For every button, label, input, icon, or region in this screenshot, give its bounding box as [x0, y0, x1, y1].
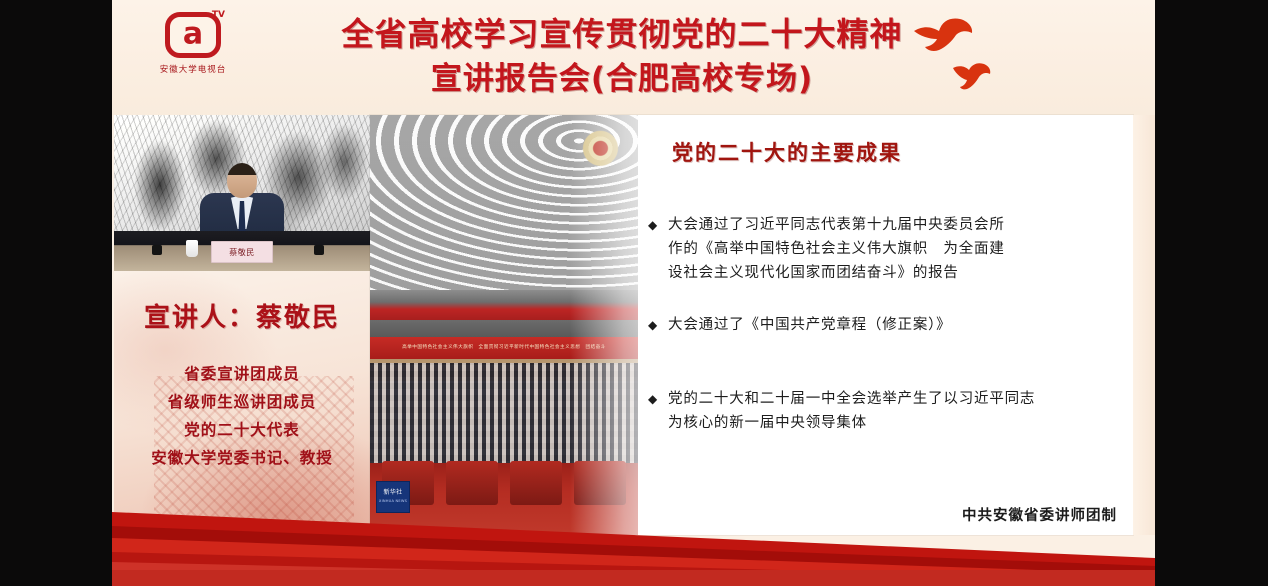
bullet-diamond-icon: ◆: [648, 213, 658, 285]
bullet-line: 为核心的新一届中央领导集体: [668, 411, 1119, 435]
watermark-cn: 新华社: [384, 489, 403, 497]
presentation-slide[interactable]: 高举中国特色社会主义伟大旗帜 全面贯彻习近平新时代中国特色社会主义思想 团结奋斗…: [370, 115, 1133, 535]
video-frame: a TV 安徽大学电视台 全省高校学习宣传贯彻党的二十大精神 宣讲报告会(合肥高…: [112, 0, 1155, 586]
microphone-icon: [314, 245, 324, 255]
speaker-nameplate: 蔡敬民: [211, 241, 273, 263]
bullet-diamond-icon: ◆: [648, 387, 658, 435]
bullet-line: 作的《高举中国特色社会主义伟大旗帜 为全面建: [668, 237, 1119, 261]
speaker-info-card: 宣讲人：蔡敬民 省委宣讲团成员 省级师生巡讲团成员 党的二十大代表 安徽大学党委…: [114, 271, 370, 586]
logo-mark-icon: a TV: [165, 12, 221, 58]
logo-letter: a: [170, 19, 216, 49]
microphone-icon: [152, 245, 162, 255]
screen-stage: a TV 安徽大学电视台 全省高校学习宣传贯彻党的二十大精神 宣讲报告会(合肥高…: [0, 0, 1268, 586]
bullet-text: 党的二十大和二十届一中全会选举产生了以习近平同志 为核心的新一届中央领导集体: [668, 387, 1119, 435]
photo-fade-overlay: [570, 115, 638, 535]
letterbox-left: [0, 0, 112, 586]
hall-seat: [446, 461, 498, 505]
xinhua-news-watermark: 新华社 XINHUA NEWS: [376, 481, 410, 513]
speaker-head: [227, 163, 257, 198]
station-logo: a TV 安徽大学电视台: [138, 12, 248, 98]
water-cup: [186, 240, 198, 257]
speaker-credentials: 省委宣讲团成员 省级师生巡讲团成员 党的二十大代表 安徽大学党委书记、教授: [114, 360, 370, 472]
credential-item: 省委宣讲团成员: [114, 360, 370, 388]
header-banner: a TV 安徽大学电视台 全省高校学习宣传贯彻党的二十大精神 宣讲报告会(合肥高…: [112, 0, 1155, 115]
hall-seat: [510, 461, 562, 505]
dove-icon: [912, 17, 974, 57]
watermark-en: XINHUA NEWS: [379, 497, 407, 505]
page-title: 全省高校学习宣传贯彻党的二十大精神 宣讲报告会(合肥高校专场): [272, 12, 972, 101]
slide-title: 党的二十大的主要成果: [672, 137, 902, 167]
title-line-1: 全省高校学习宣传贯彻党的二十大精神: [272, 12, 972, 57]
bullet-line: 设社会主义现代化国家而团结奋斗》的报告: [668, 261, 1119, 285]
credential-item: 安徽大学党委书记、教授: [114, 444, 370, 472]
credential-item: 党的二十大代表: [114, 416, 370, 444]
bullet-line: 党的二十大和二十届一中全会选举产生了以习近平同志: [668, 387, 1119, 411]
slide-content: 党的二十大的主要成果 ◆ 大会通过了习近平同志代表第十九届中央委员会所 作的《高…: [638, 115, 1133, 535]
title-line-2: 宣讲报告会(合肥高校专场): [272, 57, 972, 101]
slide-right-margin: [1133, 115, 1155, 535]
bullet-line: 大会通过了《中国共产党章程（修正案）》: [668, 313, 1119, 337]
bullet-text: 大会通过了《中国共产党章程（修正案）》: [668, 313, 1119, 337]
letterbox-right: [1155, 0, 1268, 586]
bullet-diamond-icon: ◆: [648, 313, 658, 337]
slide-bullet: ◆ 党的二十大和二十届一中全会选举产生了以习近平同志 为核心的新一届中央领导集体: [648, 387, 1119, 435]
slide-bullet: ◆ 大会通过了习近平同志代表第十九届中央委员会所 作的《高举中国特色社会主义伟大…: [648, 213, 1119, 285]
left-column: 蔡敬民 宣讲人：蔡敬民 省委宣讲团成员 省级师生巡讲团成员 党的二十大代表 安徽…: [112, 115, 370, 586]
speaker-video-feed[interactable]: 蔡敬民: [114, 115, 370, 271]
credential-item: 省级师生巡讲团成员: [114, 388, 370, 416]
slide-photo-congress-hall: 高举中国特色社会主义伟大旗帜 全面贯彻习近平新时代中国特色社会主义思想 团结奋斗…: [370, 115, 638, 535]
bullet-text: 大会通过了习近平同志代表第十九届中央委员会所 作的《高举中国特色社会主义伟大旗帜…: [668, 213, 1119, 285]
slide-bullet: ◆ 大会通过了《中国共产党章程（修正案）》: [648, 313, 1119, 337]
logo-caption: 安徽大学电视台: [138, 63, 248, 75]
speaker-name: 宣讲人：蔡敬民: [114, 297, 370, 334]
dove-icon: [952, 62, 992, 92]
slide-footer-credit: 中共安徽省委讲师团制: [962, 504, 1117, 525]
bullet-line: 大会通过了习近平同志代表第十九届中央委员会所: [668, 213, 1119, 237]
logo-tv-superscript: TV: [212, 10, 225, 20]
